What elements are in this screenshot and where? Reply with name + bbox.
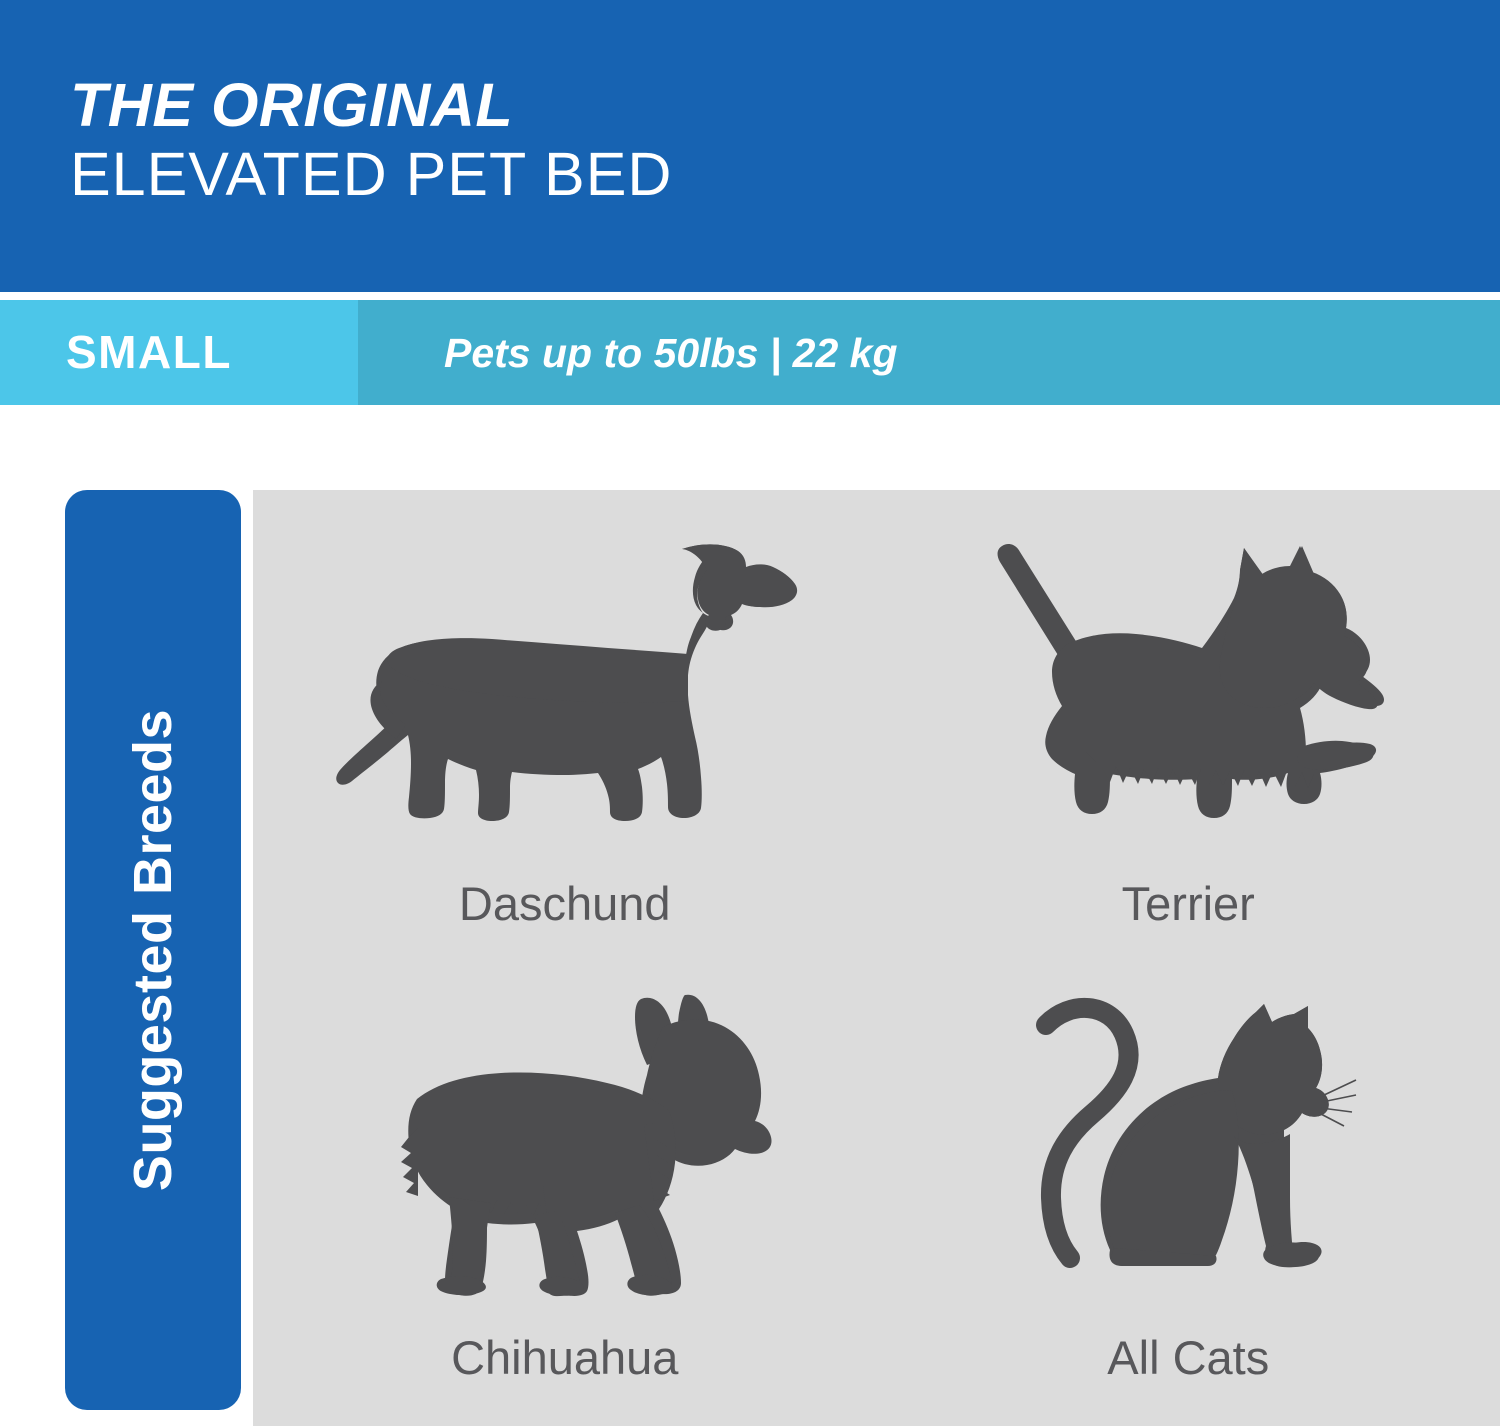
page-title-emphasis: THE ORIGINAL: [70, 72, 672, 138]
breed-cell: Daschund: [253, 490, 877, 958]
chihuahua-silhouette-icon: [253, 958, 877, 1326]
terrier-silhouette-icon: [877, 490, 1500, 872]
size-spec-band: SMALL Pets up to 50lbs | 22 kg: [0, 300, 1500, 405]
product-header-banner: THE ORIGINAL ELEVATED PET BED: [0, 0, 1500, 292]
breed-cell: Terrier: [877, 490, 1500, 958]
size-badge: SMALL: [0, 300, 358, 405]
weight-capacity-text: Pets up to 50lbs | 22 kg: [444, 328, 898, 378]
breed-cell: All Cats: [877, 958, 1500, 1426]
breed-label: Terrier: [1122, 876, 1255, 932]
size-badge-label: SMALL: [66, 326, 232, 378]
breed-cell: Chihuahua: [253, 958, 877, 1426]
suggested-breeds-side-tab: Suggested Breeds: [65, 490, 241, 1410]
suggested-breeds-side-tab-label: Suggested Breeds: [124, 709, 182, 1191]
breed-grid: Daschund Terrier: [253, 490, 1500, 1426]
breed-label: Daschund: [459, 876, 671, 932]
dachshund-silhouette-icon: [253, 490, 877, 872]
cat-silhouette-icon: [877, 958, 1500, 1326]
breed-label: All Cats: [1107, 1330, 1269, 1386]
page-title: ELEVATED PET BED: [70, 138, 672, 210]
breed-label: Chihuahua: [451, 1330, 678, 1386]
header-title-block: THE ORIGINAL ELEVATED PET BED: [70, 72, 672, 210]
